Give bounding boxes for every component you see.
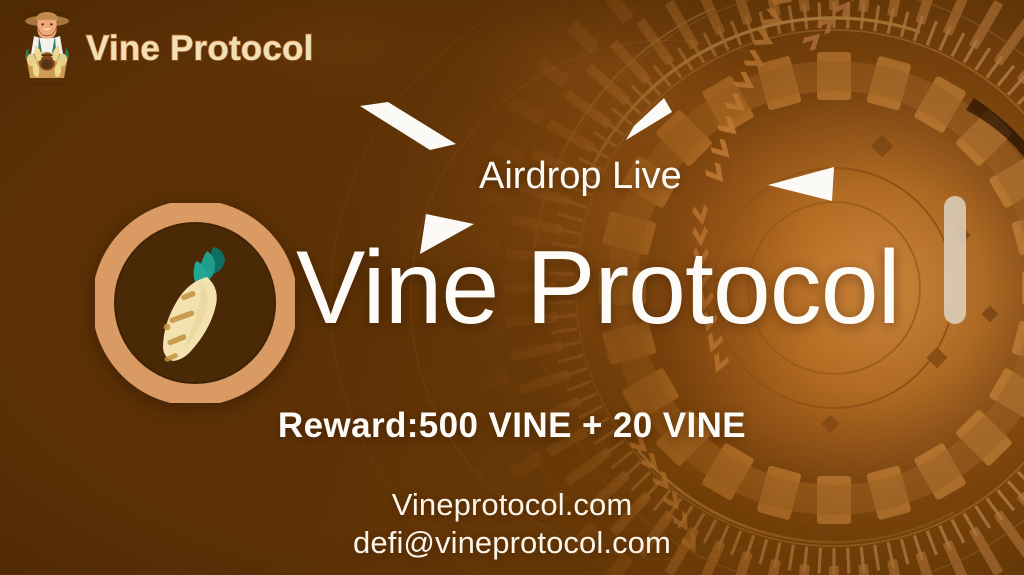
brand-name: Vine Protocol xyxy=(86,31,314,66)
eyebrow-airdrop-live: Airdrop Live xyxy=(479,157,682,195)
email-link[interactable]: defi@vineprotocol.com xyxy=(0,524,1024,562)
hero-title: Vine Protocol xyxy=(296,236,900,340)
arrow-pointing-left xyxy=(766,163,838,205)
reward-text: Reward:500 VINE + 20 VINE xyxy=(0,408,1024,443)
farmer-with-harvest-basket-icon xyxy=(12,8,82,88)
airdrop-banner: Vine Protocol Airdrop Live xyxy=(0,0,1024,575)
wedge-top-right xyxy=(620,96,676,146)
contact-block: Vineprotocol.com defi@vineprotocol.com xyxy=(0,486,1024,562)
carrot-coin-icon xyxy=(95,203,295,403)
website-link[interactable]: Vineprotocol.com xyxy=(0,486,1024,524)
brand-header[interactable]: Vine Protocol xyxy=(12,8,314,88)
wedge-top-left xyxy=(358,100,468,156)
